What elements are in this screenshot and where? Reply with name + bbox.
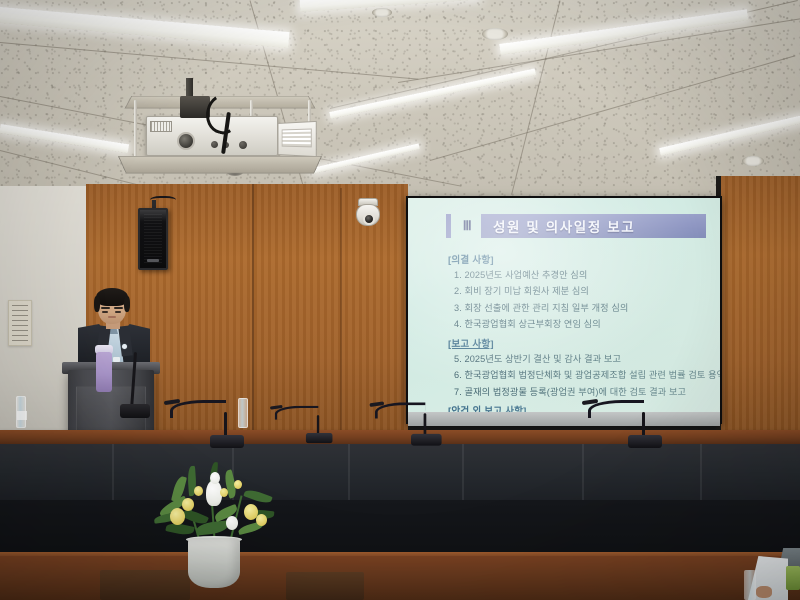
slide-body: [의결 사항] 1. 2025년도 사업예산 추경안 심의 2. 회비 장기 미…: [448, 252, 706, 412]
microphone-base: [411, 434, 442, 446]
projector-mount-cage: [122, 92, 318, 178]
ceiling-diffuser: [372, 8, 392, 17]
microphone-base: [210, 435, 244, 448]
attendee-hand: [756, 586, 772, 598]
microphone-base: [628, 435, 662, 448]
mouth: [108, 316, 116, 318]
slide-numeral: Ⅲ: [456, 214, 478, 238]
water-bottle: [744, 570, 756, 600]
table-panel-seam: [112, 444, 114, 504]
chair-back: [286, 572, 364, 600]
gooseneck-microphone: [628, 398, 688, 448]
microphone-gooseneck: [170, 400, 226, 418]
cage-post: [134, 100, 137, 162]
projector-vent: [150, 121, 172, 132]
table-panel-seam: [582, 444, 584, 504]
flower-arrangement: [152, 462, 278, 590]
table-panel-seam: [462, 444, 464, 504]
conference-room-photo: Ⅲ 성원 및 의사일정 보고 [의결 사항] 1. 2025년도 사업예산 추경…: [0, 0, 800, 600]
lapel-badge: [122, 344, 127, 349]
foliage: [243, 487, 272, 505]
section-heading: [보고 사항]: [448, 336, 706, 350]
ceiling: [0, 0, 800, 200]
microphone-gooseneck: [588, 400, 644, 418]
slide-title-row: Ⅲ 성원 및 의사일정 보고: [446, 214, 706, 238]
yellow-flower: [182, 498, 194, 511]
speaker-grille: [144, 214, 162, 264]
gooseneck-microphone: [306, 409, 348, 443]
yellow-flower: [194, 486, 203, 496]
yellow-flower: [234, 480, 242, 489]
ceiling-diffuser: [742, 156, 764, 166]
table-panel-seam: [348, 444, 350, 504]
notice-text-lines: [12, 305, 28, 341]
slide-title: 성원 및 의사일정 보고: [481, 214, 706, 238]
title-accent-bar: [446, 214, 451, 238]
bottle-label: [17, 411, 27, 420]
slide-item: 5. 2025년도 상반기 결산 및 감사 결과 보고: [454, 354, 706, 364]
projector-knob: [239, 141, 247, 149]
white-flower: [226, 516, 238, 530]
wall-notice: [8, 300, 32, 346]
speaker-badge: [147, 259, 159, 262]
projection-screen: Ⅲ 성원 및 의사일정 보고 [의결 사항] 1. 2025년도 사업예산 추경…: [408, 198, 720, 412]
hair-side: [94, 296, 100, 312]
podium-microphone-base: [120, 404, 150, 418]
microphone-gooseneck: [375, 402, 425, 418]
eyebrow: [101, 307, 110, 309]
yellow-flower: [256, 514, 267, 526]
ceiling-diffuser: [482, 28, 508, 40]
slide-item: 6. 한국광업협회 법정단체화 및 광업공제조합 설립 관련 법률 검토 용역 …: [454, 370, 706, 380]
cage-bottom-plate: [118, 156, 322, 173]
camera-head: [356, 204, 380, 226]
projector-knob: [211, 141, 218, 148]
green-cup: [786, 566, 800, 590]
slide: Ⅲ 성원 및 의사일정 보고 [의결 사항] 1. 2025년도 사업예산 추경…: [408, 198, 720, 412]
projector-side-panel: [278, 121, 317, 157]
yellow-flower: [220, 488, 228, 497]
microphone-gooseneck: [275, 406, 319, 420]
microphone-base: [306, 433, 333, 443]
water-bottle: [16, 396, 26, 428]
slide-item: 1. 2025년도 사업예산 추경안 심의: [454, 270, 706, 280]
wall-speaker: [138, 208, 168, 270]
wood-panel-seam: [340, 188, 342, 432]
wood-wall-right: [718, 176, 800, 438]
eye: [102, 311, 108, 313]
white-flower: [210, 472, 220, 484]
slide-item: 3. 회장 선출에 관한 관리 지침 일부 개정 심의: [454, 303, 706, 313]
section-heading: [의결 사항]: [448, 252, 706, 266]
mount-pipe: [186, 78, 193, 96]
projector-lens-icon: [177, 132, 195, 150]
wood-panel-seam: [252, 184, 254, 432]
eyebrow: [114, 307, 123, 309]
projector-label: [282, 128, 312, 147]
yellow-flower: [170, 508, 185, 525]
slide-item: 4. 한국광업협회 상근부회장 연임 심의: [454, 319, 706, 329]
slide-item: 2. 회비 장기 미납 회원사 제분 심의: [454, 286, 706, 296]
slide-item: 7. 골재의 법정광물 등록(광업권 부여)에 대한 검토 결과 보고: [454, 387, 706, 397]
table-panel-seam: [700, 444, 702, 504]
ceramic-vase: [188, 538, 240, 588]
purple-tumbler: [96, 352, 112, 392]
hair-side: [124, 296, 130, 312]
ptz-dome-camera: [356, 198, 380, 228]
gooseneck-microphone: [210, 398, 270, 448]
gooseneck-microphone: [411, 402, 465, 445]
head-table-front-panel: [0, 444, 800, 504]
camera-lens-icon: [363, 213, 375, 225]
eye: [115, 311, 121, 313]
